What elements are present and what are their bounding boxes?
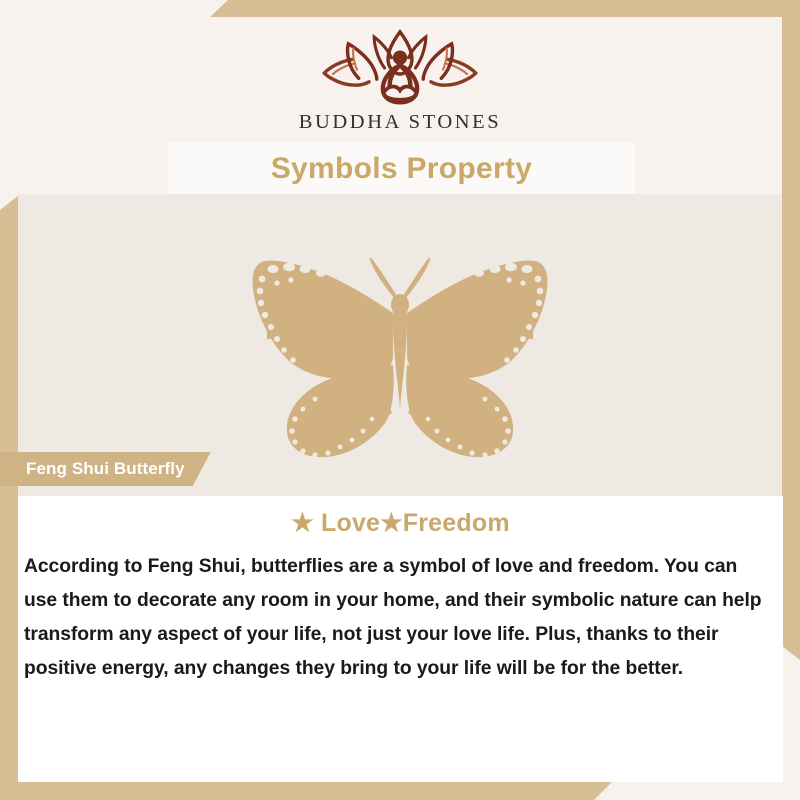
feng-shui-butterfly-tag: Feng Shui Butterfly bbox=[0, 452, 211, 486]
gold-band-top bbox=[210, 0, 800, 17]
gold-band-bottom bbox=[0, 782, 612, 800]
brand-logo-block: BUDDHA STONES bbox=[18, 17, 782, 143]
brand-wordmark: BUDDHA STONES bbox=[299, 112, 502, 133]
promo-graphic-page: BUDDHA STONES Symbols Property bbox=[0, 0, 800, 800]
description-card: ★ Love★Freedom According to Feng Shui, b… bbox=[18, 496, 783, 782]
lotus-meditation-figure-icon bbox=[314, 25, 486, 111]
tag-label: Feng Shui Butterfly bbox=[26, 459, 185, 479]
title-banner: Symbols Property bbox=[168, 143, 635, 194]
description-paragraph: According to Feng Shui, butterflies are … bbox=[18, 538, 783, 686]
gold-band-right bbox=[782, 0, 800, 660]
butterfly-icon bbox=[235, 247, 565, 462]
page-title: Symbols Property bbox=[271, 152, 533, 186]
love-freedom-subheading: ★ Love★Freedom bbox=[18, 496, 783, 538]
gold-band-left bbox=[0, 196, 18, 800]
